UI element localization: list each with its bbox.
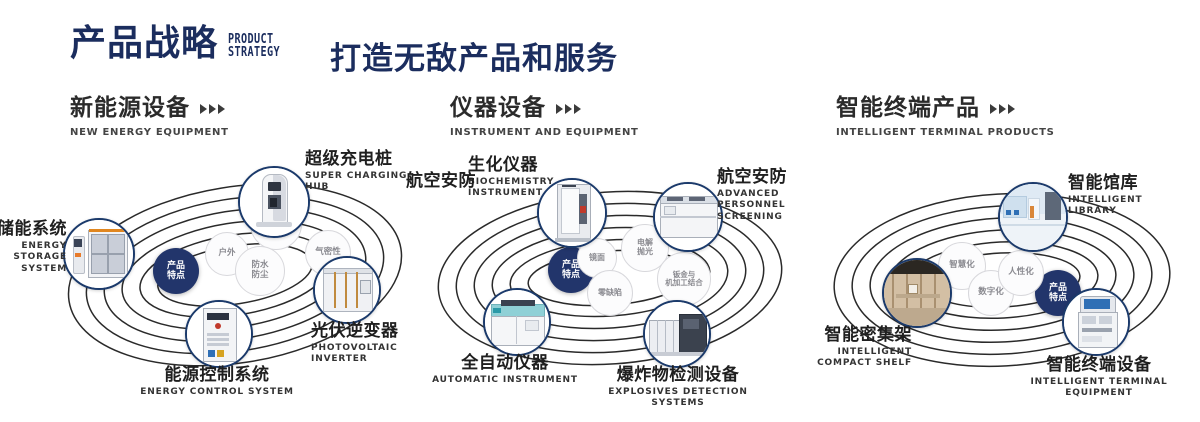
chevron-right-icon <box>200 104 225 114</box>
cluster-new-energy: 产品 特点 户外 防腐 防锈 防水 防尘 气密性 储能系统 <box>55 160 415 390</box>
caption-cn: 航空安防 <box>717 168 827 187</box>
explosives-detector-photo <box>645 302 709 366</box>
terminal-kiosk-photo <box>1064 290 1128 354</box>
core-line1: 产品 <box>167 261 185 271</box>
page-title-en-line2: STRATEGY <box>228 46 280 59</box>
caption-advanced-personnel-screening: 航空安防 ADVANCED PERSONNEL SCREENING <box>717 168 827 223</box>
battery-cabinet-photo <box>65 220 133 288</box>
page-title-en-line1: PRODUCT <box>228 33 280 46</box>
caption-en: INTELLIGENT COMPACT SHELF <box>782 347 912 370</box>
caption-intelligent-compact-shelf: 智能密集架 INTELLIGENT COMPACT SHELF <box>782 326 912 370</box>
section-heading-new-energy: 新能源设备 NEW ENERGY EQUIPMENT <box>70 97 229 138</box>
control-cabinet-photo <box>187 302 251 366</box>
core-line2: 特点 <box>562 270 580 280</box>
screening-machine-photo <box>655 184 721 250</box>
automatic-instrument-photo <box>485 290 549 354</box>
caption-en: INTELLIGENT LIBRARY <box>1068 195 1188 218</box>
caption-en: ENERGY CONTROL SYSTEM <box>107 387 327 398</box>
page-title: 产品战略 PRODUCT STRATEGY <box>70 26 295 62</box>
node-advanced-personnel-screening[interactable] <box>653 182 723 252</box>
caption-aviation-security-extra: 航空安防 <box>406 172 496 191</box>
caption-cn: 智能馆库 <box>1068 174 1188 193</box>
feature-bubble-waterproof: 防水 防尘 <box>235 246 285 296</box>
page-title-en: PRODUCT STRATEGY <box>228 33 280 60</box>
feature-bubble-sheet-metal-machining: 钣金与 机加工结合 <box>657 252 711 306</box>
cluster-instrument: 产品 特点 镜面 电解 抛光 零缺陷 钣金与 机加工结合 生化仪器 BIOCHE… <box>425 160 795 390</box>
section-heading-instrument: 仪器设备 INSTRUMENT AND EQUIPMENT <box>450 97 639 138</box>
section-title-cn: 智能终端产品 <box>836 97 980 120</box>
node-intelligent-terminal-equipment[interactable] <box>1062 288 1130 356</box>
caption-cn: 智能密集架 <box>782 326 912 345</box>
poster-canvas: 产品战略 PRODUCT STRATEGY 打造无敌产品和服务 新能源设备 NE… <box>0 0 1200 422</box>
caption-cn: 爆炸物检测设备 <box>583 366 773 385</box>
chevron-right-icon <box>990 104 1015 114</box>
caption-cn: 智能终端设备 <box>1004 356 1194 375</box>
node-energy-storage-system[interactable] <box>63 218 135 290</box>
caption-en: ADVANCED PERSONNEL SCREENING <box>717 189 827 223</box>
caption-en: AUTOMATIC INSTRUMENT <box>415 375 595 386</box>
feature-bubble-humanized: 人性化 <box>998 250 1044 296</box>
page-subtitle: 打造无敌产品和服务 <box>330 33 618 78</box>
caption-en: ENERGY STORAGE SYSTEM <box>0 241 67 275</box>
charging-pile-photo <box>240 168 308 236</box>
caption-cn: 超级充电桩 <box>305 150 425 169</box>
section-title-cn: 新能源设备 <box>70 97 190 120</box>
caption-energy-storage-system: 储能系统 ENERGY STORAGE SYSTEM <box>0 220 67 275</box>
node-super-charging-hub[interactable] <box>238 166 310 238</box>
caption-cn: 储能系统 <box>0 220 67 239</box>
section-title-cn: 仪器设备 <box>450 97 546 120</box>
caption-cn: 航空安防 <box>406 172 496 191</box>
cluster-intelligent-terminal: 产品 特点 智慧化 数字化 人性化 智能馆库 INTELLIGENT LIBR <box>820 160 1190 390</box>
node-intelligent-compact-shelf[interactable] <box>882 258 952 328</box>
section-title-en: INSTRUMENT AND EQUIPMENT <box>450 127 639 138</box>
feature-bubble-zero-defect: 零缺陷 <box>587 270 633 316</box>
section-title-en: INTELLIGENT TERMINAL PRODUCTS <box>836 127 1055 138</box>
caption-en: INTELLIGENT TERMINAL EQUIPMENT <box>1004 377 1194 400</box>
caption-cn: 能源控制系统 <box>107 366 327 385</box>
node-intelligent-library[interactable] <box>998 182 1068 252</box>
core-bubble-product-features: 产品 特点 <box>153 248 199 294</box>
page-title-cn: 产品战略 <box>70 26 218 62</box>
node-automatic-instrument[interactable] <box>483 288 551 356</box>
node-explosives-detection-system[interactable] <box>643 300 711 368</box>
smart-library-photo <box>1000 184 1066 250</box>
caption-intelligent-library: 智能馆库 INTELLIGENT LIBRARY <box>1068 174 1188 218</box>
caption-explosives-detection-system: 爆炸物检测设备 EXPLOSIVES DETECTION SYSTEMS <box>583 366 773 410</box>
caption-intelligent-terminal-equipment: 智能终端设备 INTELLIGENT TERMINAL EQUIPMENT <box>1004 356 1194 400</box>
caption-automatic-instrument: 全自动仪器 AUTOMATIC INSTRUMENT <box>415 354 595 386</box>
section-heading-intelligent: 智能终端产品 INTELLIGENT TERMINAL PRODUCTS <box>836 97 1055 138</box>
pv-inverter-photo <box>315 258 379 322</box>
caption-energy-control-system: 能源控制系统 ENERGY CONTROL SYSTEM <box>107 366 327 398</box>
node-energy-control-system[interactable] <box>185 300 253 368</box>
node-photovoltaic-inverter[interactable] <box>313 256 381 324</box>
chevron-right-icon <box>556 104 581 114</box>
core-line2: 特点 <box>167 271 185 281</box>
caption-en: EXPLOSIVES DETECTION SYSTEMS <box>583 387 773 410</box>
caption-cn: 全自动仪器 <box>415 354 595 373</box>
section-title-en: NEW ENERGY EQUIPMENT <box>70 127 229 138</box>
compact-shelf-photo <box>884 260 950 326</box>
